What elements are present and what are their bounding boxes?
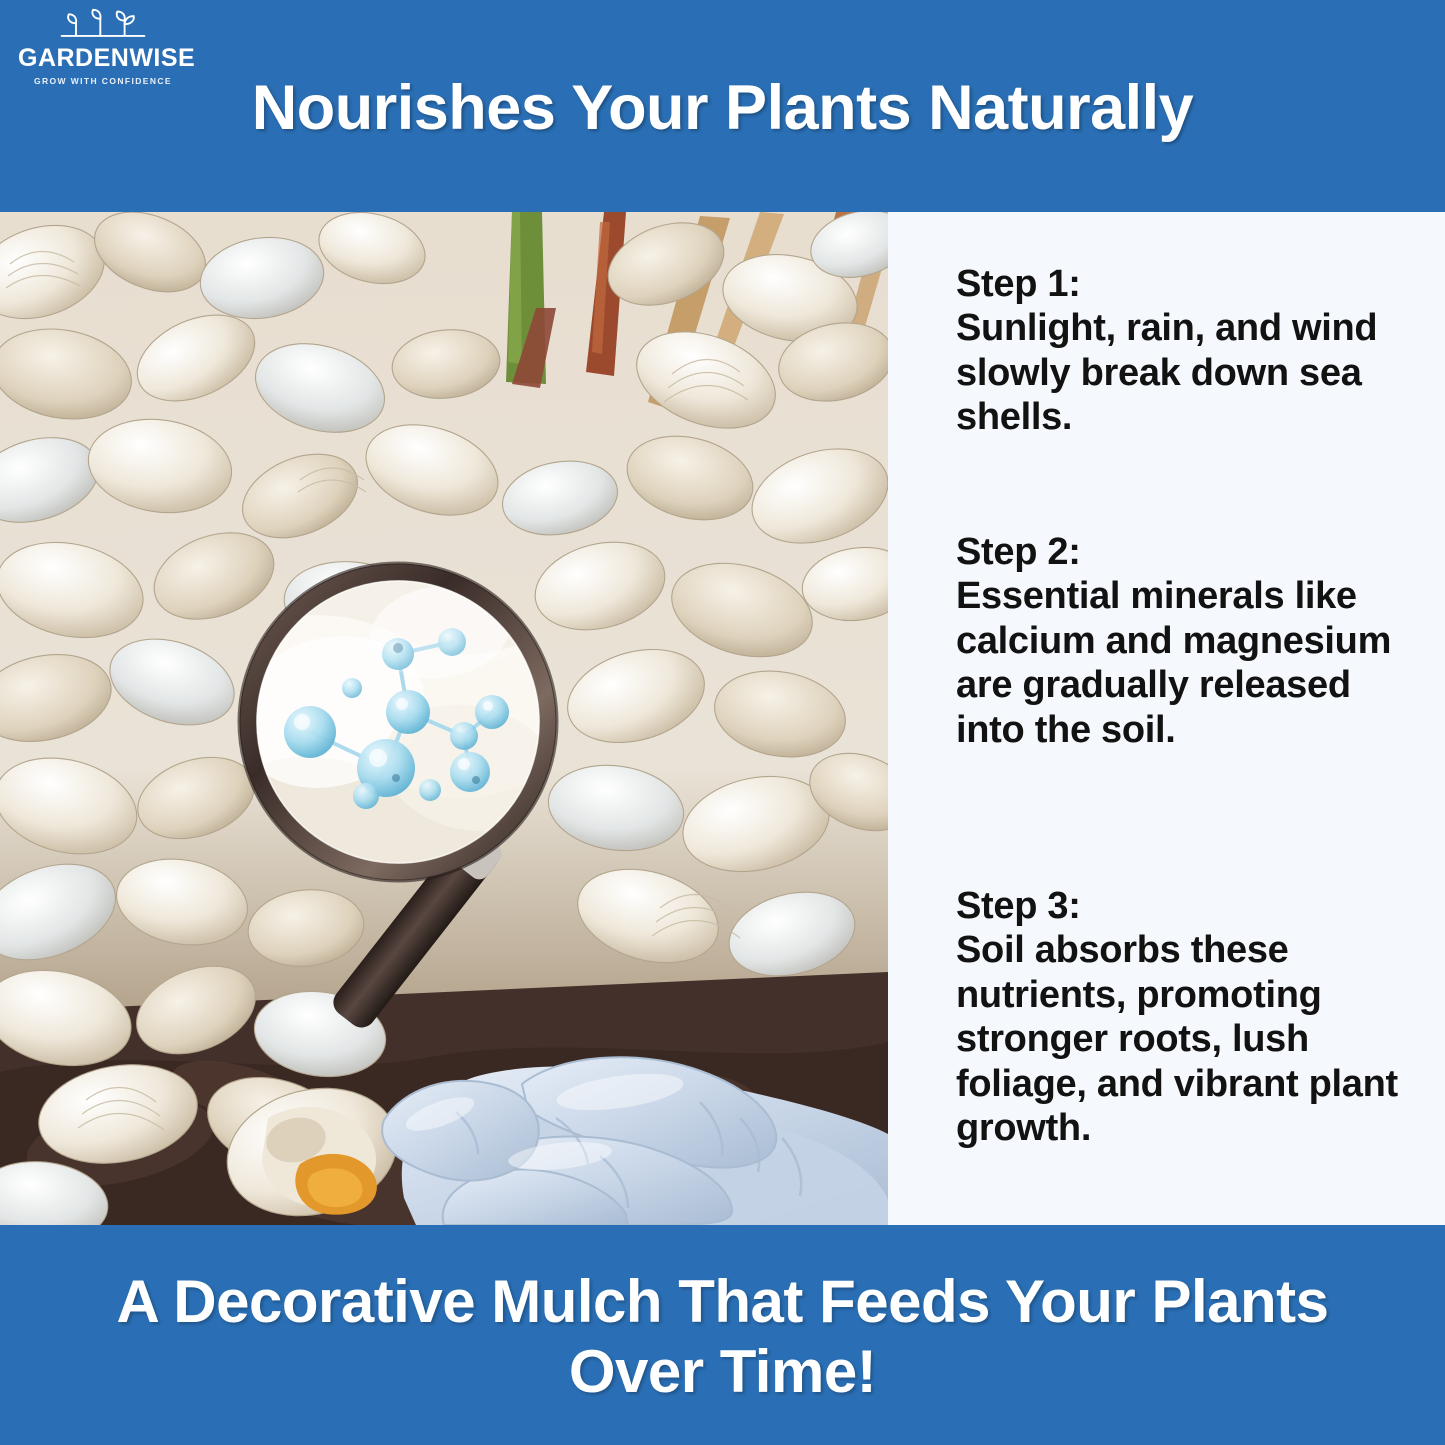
sprout-leaves-icon [49, 8, 157, 44]
step-1: Step 1: Sunlight, rain, and wind slowly … [956, 262, 1426, 440]
step-2-heading: Step 2: [956, 530, 1426, 574]
page-title: Nourishes Your Plants Naturally [0, 72, 1445, 144]
step-2-body: Essential minerals like calcium and magn… [956, 574, 1426, 752]
step-3-heading: Step 3: [956, 884, 1426, 928]
brand-name: GARDENWISE [18, 46, 188, 71]
content-row: Step 1: Sunlight, rain, and wind slowly … [0, 212, 1445, 1225]
footer-line-1: A Decorative Mulch That Feeds Your Plant… [0, 1267, 1445, 1337]
step-3: Step 3: Soil absorbs these nutrients, pr… [956, 884, 1426, 1151]
step-1-body: Sunlight, rain, and wind slowly break do… [956, 306, 1426, 439]
steps-panel: Step 1: Sunlight, rain, and wind slowly … [888, 212, 1445, 1225]
product-photo [0, 212, 888, 1225]
footer-tagline: A Decorative Mulch That Feeds Your Plant… [0, 1267, 1445, 1406]
footer-band: A Decorative Mulch That Feeds Your Plant… [0, 1225, 1445, 1445]
step-3-body: Soil absorbs these nutrients, promoting … [956, 928, 1426, 1150]
step-1-heading: Step 1: [956, 262, 1426, 306]
step-2: Step 2: Essential minerals like calcium … [956, 530, 1426, 752]
header-band: GARDENWISE GROW WITH CONFIDENCE Nourishe… [0, 0, 1445, 212]
promo-infographic: GARDENWISE GROW WITH CONFIDENCE Nourishe… [0, 0, 1445, 1445]
footer-line-2: Over Time! [0, 1337, 1445, 1407]
